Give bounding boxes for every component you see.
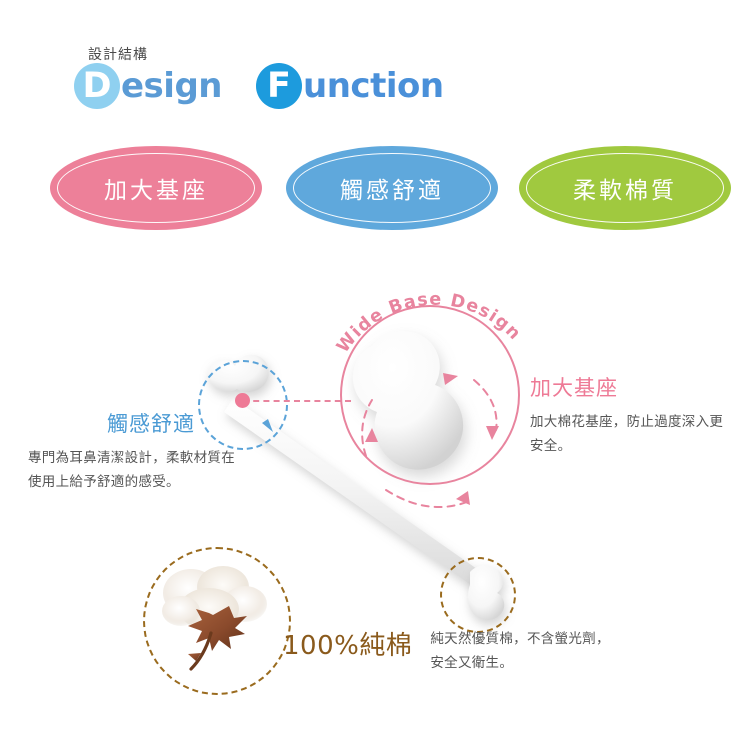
pill-comfort[interactable]: 觸感舒適 — [286, 146, 498, 230]
design-rest-letters: esign — [121, 66, 222, 106]
pill-comfort-label: 觸感舒適 — [340, 171, 444, 205]
feature-wide-base-block: 加大基座 加大棉花基座，防止過度深入更安全。 — [530, 372, 735, 458]
function-rest-letters: unction — [303, 66, 444, 106]
feature-comfort-heading: 觸感舒適 — [28, 408, 243, 438]
pill-soft-cotton-label: 柔軟棉質 — [573, 171, 677, 205]
function-capital-letter: F — [256, 63, 302, 109]
leader-dot — [235, 393, 250, 408]
leader-line — [243, 400, 351, 402]
design-capital-letter: D — [74, 63, 120, 109]
feature-wide-base-heading: 加大基座 — [530, 372, 735, 402]
pill-wide-base[interactable]: 加大基座 — [50, 146, 262, 230]
header-word-design: D esign — [74, 63, 222, 109]
header-title-row: D esign F unction — [74, 63, 444, 109]
pill-wide-base-label: 加大基座 — [104, 171, 208, 205]
infographic-canvas: 設計結構 D esign F unction 加大基座 觸感舒適 柔軟棉質 — [0, 0, 750, 750]
cotton-boll-image — [145, 549, 289, 693]
pill-soft-cotton[interactable]: 柔軟棉質 — [519, 146, 731, 230]
feature-cotton-block: 100%純棉 純天然優質棉，不含螢光劑， 安全又衛生。 — [283, 625, 610, 675]
magnifier-circle — [340, 305, 520, 485]
feature-comfort-block: 觸感舒適 專門為耳鼻清潔設計，柔軟材質在使用上給予舒適的感受。 — [28, 408, 243, 494]
feature-comfort-body: 專門為耳鼻清潔設計，柔軟材質在使用上給予舒適的感受。 — [28, 447, 243, 494]
cotton-tip-highlight-circle — [440, 557, 516, 633]
header-subtitle: 設計結構 — [88, 44, 148, 64]
header-word-function: F unction — [256, 63, 444, 109]
feature-cotton-body: 純天然優質棉，不含螢光劑， 安全又衛生。 — [430, 625, 609, 675]
feature-cotton-heading: 100%純棉 — [283, 625, 412, 662]
cotton-photo-circle — [143, 547, 291, 695]
feature-wide-base-body: 加大棉花基座，防止過度深入更安全。 — [530, 411, 735, 458]
